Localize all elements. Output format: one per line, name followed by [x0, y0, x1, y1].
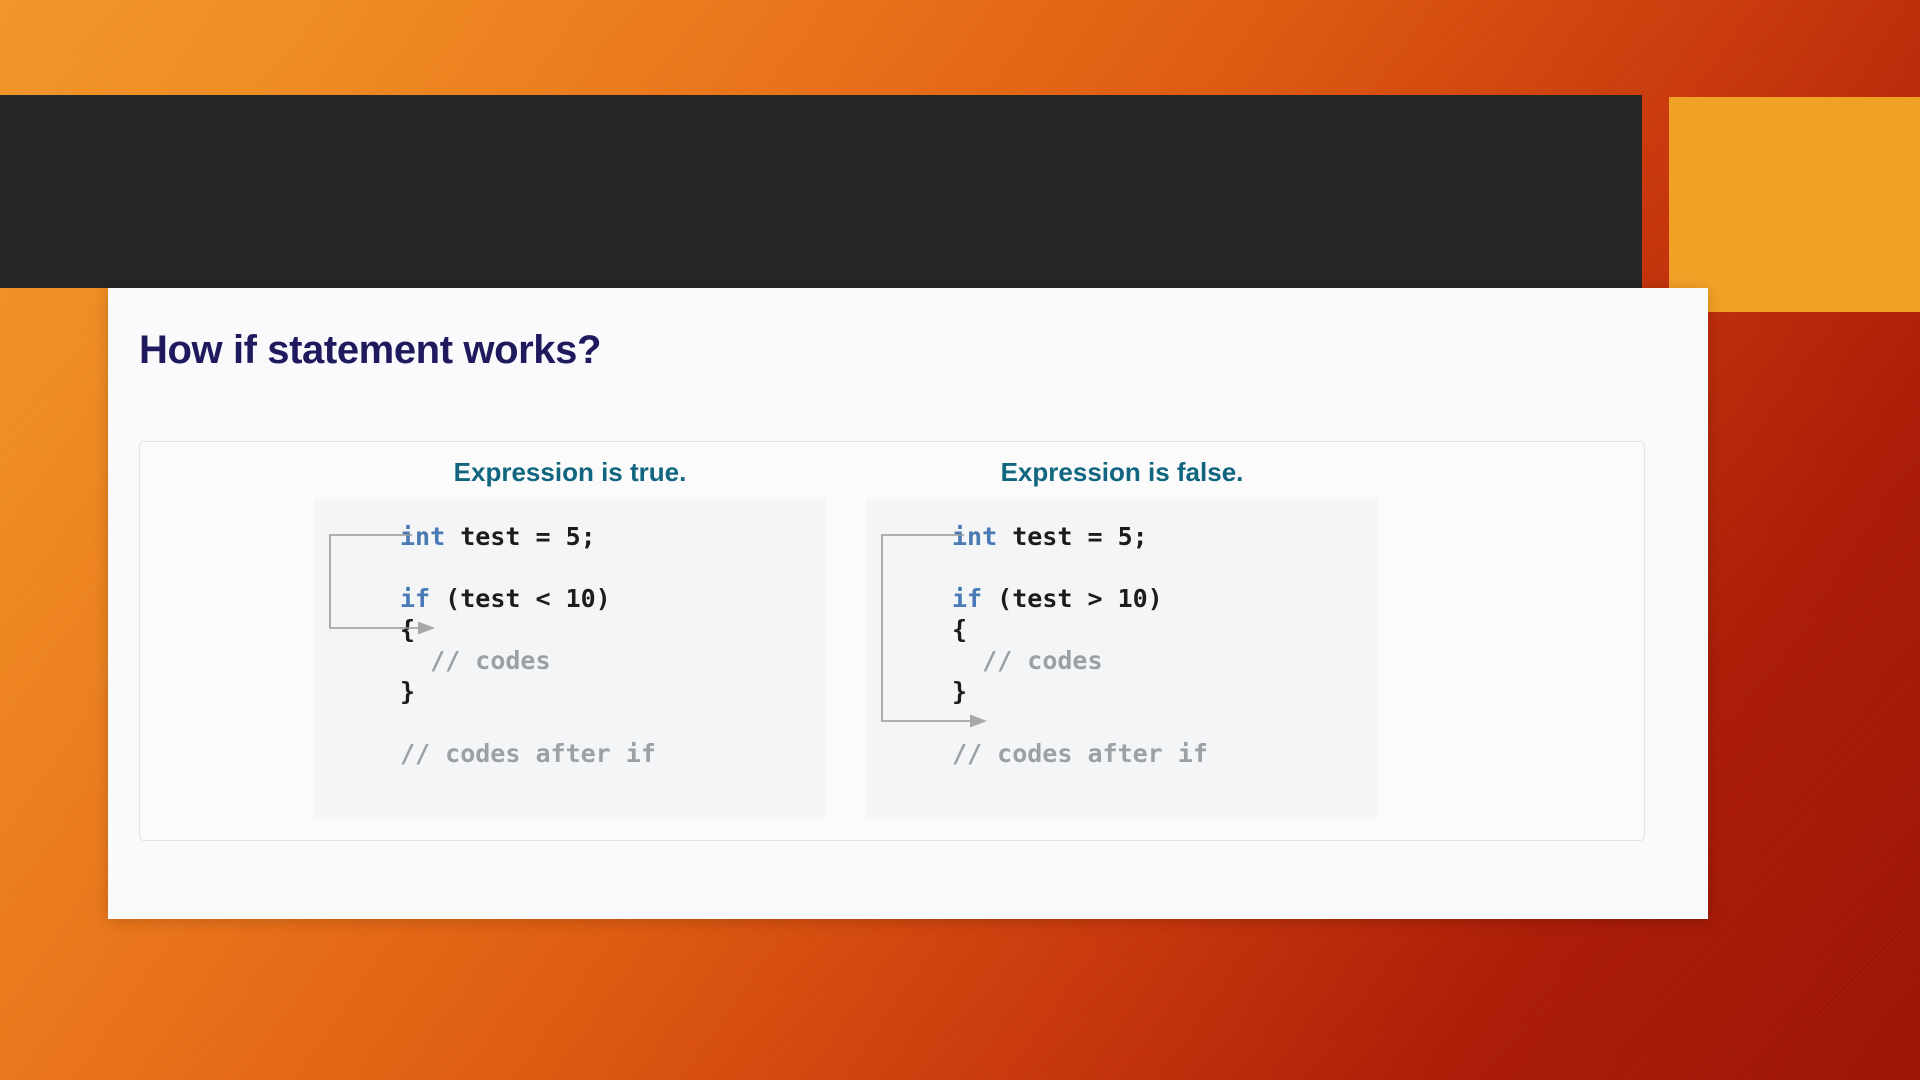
code-indent [400, 646, 430, 675]
code-line: if (test < 10) [400, 583, 826, 614]
code-line: // codes [952, 645, 1378, 676]
code-token-plain: } [952, 677, 967, 706]
code-token-plain: test = 5; [997, 522, 1148, 551]
code-line: // codes [400, 645, 826, 676]
code-line: // codes after if [400, 738, 826, 769]
content-card: How if statement works? Expression is tr… [108, 288, 1708, 919]
dark-banner-shape [0, 95, 1642, 288]
code-line: { [400, 614, 826, 645]
code-line [952, 707, 1378, 738]
code-lines-true: int test = 5; if (test < 10){ // codes} … [314, 521, 826, 769]
code-line: int test = 5; [952, 521, 1378, 552]
code-line: } [952, 676, 1378, 707]
code-token-plain: { [952, 615, 967, 644]
code-line: // codes after if [952, 738, 1378, 769]
code-token-keyword: int [952, 522, 997, 551]
code-lines-false: int test = 5; if (test > 10){ // codes} … [866, 521, 1378, 769]
page-title: How if statement works? [139, 328, 601, 373]
code-line: } [400, 676, 826, 707]
diagram-heading-false: Expression is false. [866, 457, 1378, 488]
figure-inner: Expression is true. int test = 5; if (te… [140, 442, 1644, 840]
code-token-comment: // codes after if [952, 739, 1208, 768]
code-line [952, 552, 1378, 583]
diagram-expression-true: Expression is true. int test = 5; if (te… [314, 442, 826, 840]
code-token-comment: // codes [982, 646, 1102, 675]
code-block-true: int test = 5; if (test < 10){ // codes} … [314, 499, 826, 819]
code-line: { [952, 614, 1378, 645]
diagram-heading-true: Expression is true. [314, 457, 826, 488]
code-line [400, 707, 826, 738]
figure-container: Expression is true. int test = 5; if (te… [139, 441, 1645, 841]
slide-canvas: How if statement works? Expression is tr… [0, 0, 1920, 1080]
code-token-comment: // codes after if [400, 739, 656, 768]
code-token-keyword: if [400, 584, 430, 613]
code-token-keyword: int [400, 522, 445, 551]
amber-accent-block [1669, 97, 1920, 312]
code-line: int test = 5; [400, 521, 826, 552]
code-token-plain: (test > 10) [982, 584, 1163, 613]
diagram-expression-false: Expression is false. int test = 5; if (t… [866, 442, 1378, 840]
code-token-plain: (test < 10) [430, 584, 611, 613]
code-token-comment: // codes [430, 646, 550, 675]
code-indent [952, 646, 982, 675]
code-token-plain: } [400, 677, 415, 706]
code-token-keyword: if [952, 584, 982, 613]
code-block-false: int test = 5; if (test > 10){ // codes} … [866, 499, 1378, 819]
code-token-plain: test = 5; [445, 522, 596, 551]
code-line: if (test > 10) [952, 583, 1378, 614]
code-token-plain: { [400, 615, 415, 644]
code-line [400, 552, 826, 583]
